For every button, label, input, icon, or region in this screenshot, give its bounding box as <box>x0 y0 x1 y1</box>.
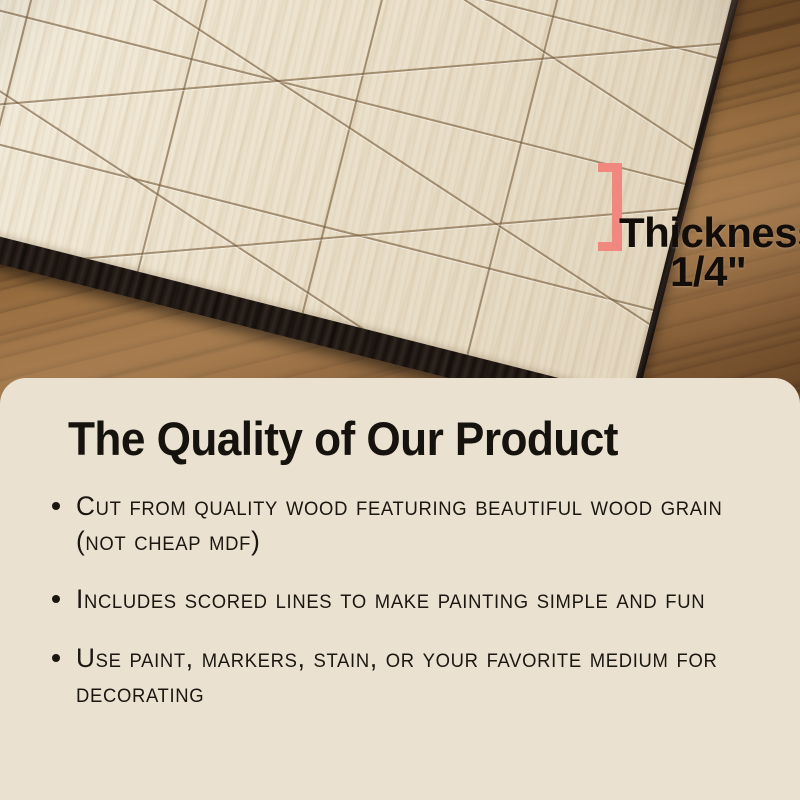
list-item: Cut from quality wood featuring beautifu… <box>44 489 748 558</box>
quality-panel: The Quality of Our Product Cut from qual… <box>0 378 800 800</box>
list-item-label: Cut from quality wood featuring beautifu… <box>76 489 728 558</box>
list-item: Use paint, markers, stain, or your favor… <box>44 641 748 710</box>
bullet-dot-icon <box>52 502 60 510</box>
list-item: Includes scored lines to make painting s… <box>44 582 748 617</box>
bullet-dot-icon <box>52 654 60 662</box>
bullet-dot-icon <box>52 595 60 603</box>
thickness-value: 1/4" <box>670 248 746 296</box>
list-item-label: Includes scored lines to make painting s… <box>76 582 728 617</box>
quality-bullet-list: Cut from quality wood featuring beautifu… <box>44 489 748 710</box>
page-title: The Quality of Our Product <box>68 414 707 463</box>
product-infographic: Thickness 1/4" The Quality of Our Produc… <box>0 0 800 800</box>
list-item-label: Use paint, markers, stain, or your favor… <box>76 641 728 710</box>
